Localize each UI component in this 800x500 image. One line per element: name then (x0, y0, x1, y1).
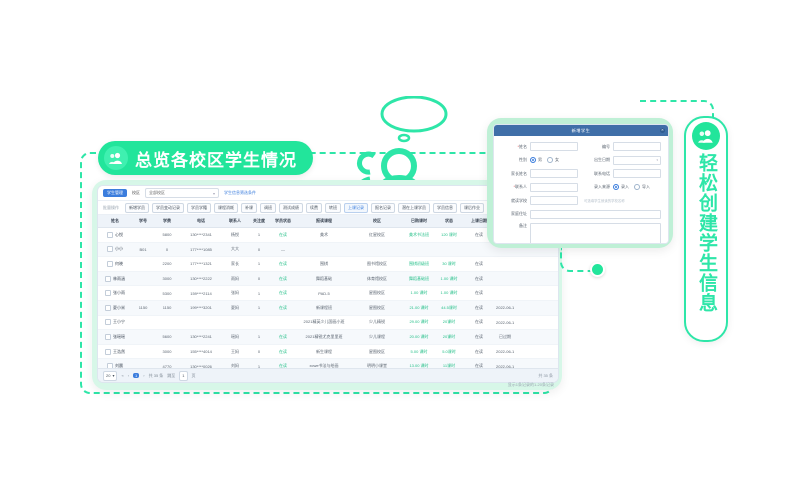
table-cell: 星图校区 (352, 290, 402, 296)
table-cell: 夏小米 (98, 305, 132, 311)
table-cell: 星图校区 (352, 349, 402, 355)
chevron-down-icon: ▾ (112, 372, 114, 380)
badge-left-label: 总览各校区学生情况 (135, 146, 297, 171)
field-label: 编号 (584, 144, 610, 150)
table-cell: 在读 (462, 349, 496, 355)
field-label: 家长姓名 (501, 171, 527, 177)
row-checkbox[interactable] (105, 290, 111, 296)
table-cell: 王妈 (222, 349, 248, 355)
radio-label: 录入 (621, 184, 629, 190)
table-cell: 0 (154, 247, 180, 252)
dialog-connector-dot (590, 262, 605, 277)
table-cell: 杨悦 (222, 232, 248, 238)
table-cell: 已过期 (496, 334, 514, 340)
table-cell: 1150 (132, 305, 154, 310)
form-row: *姓名编号 (501, 142, 661, 151)
row-checkbox[interactable] (105, 305, 111, 311)
table-row[interactable]: 刘晨4770130****0026刘妈1在读xcwe书法与绘画明明小课堂13.0… (98, 359, 558, 368)
table-column-header: 学费 (154, 218, 180, 224)
table-cell: 红星校区 (352, 232, 402, 238)
pagination-bar: 20 ▾ « ‹ 1 › 共 35 条 跳至 1 页 共 35 条 (98, 368, 558, 382)
table-cell: 0 (248, 276, 270, 281)
table-cell: 177****1085 (180, 247, 222, 252)
table-cell: 张妈 (222, 290, 248, 296)
campus-select-value: 全部校区 (149, 190, 165, 196)
radio-option[interactable]: 女 (547, 157, 559, 163)
badge-right-label: 轻松创建学生信息 (696, 153, 716, 313)
create-student-dialog: 新增学生 ✕ *姓名编号性别男女出生日期▾家长姓名联系电话*联系人录入来源录入导… (493, 124, 669, 244)
table-cell: 在读 (462, 334, 496, 340)
table-row[interactable]: 张瑶瑶5600130****2241瑶妈1在读2021精锐尤克里里班少儿课程20… (98, 330, 558, 345)
field-textarea[interactable] (530, 223, 661, 244)
dialog-title-bar: 新增学生 ✕ (494, 125, 668, 136)
table-cell: 王小宁 (98, 319, 132, 325)
table-cell: 少儿精锐 (352, 319, 402, 325)
table-cell: 5.00 课时 (402, 349, 436, 355)
row-checkbox[interactable] (105, 334, 111, 340)
campus-select[interactable]: 全部校区 ▾ (145, 188, 219, 198)
table-cell: 围棋初级班 (402, 261, 436, 267)
radio-dot (634, 184, 640, 190)
toolbar-button[interactable]: 课程消耗 (214, 203, 238, 213)
record-count-footnote: 显示1条记录的1-20条记录 (508, 382, 554, 388)
field-input[interactable] (530, 183, 578, 192)
table-row[interactable]: 王浩然3000155****4014王妈0在读新生课程星图校区5.00 课时5.… (98, 345, 558, 360)
radio-option[interactable]: 录入 (613, 184, 629, 190)
goto-page-input[interactable]: 1 (179, 371, 187, 381)
table-cell: 2022-06-11 (496, 305, 514, 310)
field-hint-text: 可选填学生就读的学校名称 (584, 198, 625, 203)
table-column-header: 关注度 (248, 218, 270, 224)
toolbar-button[interactable]: 补课 (241, 203, 257, 213)
table-cell: 159****2114 (180, 291, 222, 296)
form-field: 编号 (584, 142, 661, 151)
goto-label: 跳至 (167, 373, 175, 379)
form-hint: 可选填学生就读的学校名称 (584, 196, 661, 205)
row-checkbox[interactable] (107, 261, 113, 267)
form-row: 家长姓名联系电话 (501, 169, 661, 178)
table-cell: 29.00 课时 (402, 319, 436, 325)
form-field: 联系电话 (584, 169, 661, 178)
table-cell: 在读 (462, 261, 496, 267)
table-column-header: 报读课程 (296, 218, 352, 224)
table-cell: 星图校区 (352, 305, 402, 311)
table-cell: 177****1321 (180, 261, 222, 266)
table-cell: 44.5课时 (436, 305, 462, 311)
close-icon[interactable]: ✕ (660, 128, 665, 133)
table-cell: 在读 (270, 276, 296, 282)
table-cell: 3000 (154, 276, 180, 281)
form-field: 出生日期▾ (584, 156, 661, 165)
radio-group[interactable]: 男女 (530, 157, 559, 163)
form-row: *联系人录入来源录入导入 (501, 183, 661, 192)
table-column-header: 校区 (352, 218, 402, 224)
total-count-text: 共 35 条 (149, 373, 164, 379)
toolbar-button[interactable]: 上课记录 (344, 203, 368, 213)
table-cell: 何晓 (98, 261, 132, 267)
table-cell: 0 (248, 247, 270, 252)
saved-filter-link[interactable]: 学生信息筛选条件 (224, 190, 256, 196)
field-label: 录入来源 (584, 184, 610, 190)
radio-dot (613, 184, 619, 190)
radio-group[interactable]: 录入导入 (613, 184, 650, 190)
chevron-down-icon: ▾ (213, 191, 215, 196)
toolbar-button[interactable]: 续费 (306, 203, 322, 213)
row-checkbox[interactable] (105, 319, 111, 325)
page-size-select[interactable]: 20 ▾ (103, 371, 117, 381)
form-field: 录入来源录入导入 (584, 183, 661, 192)
field-input[interactable] (530, 196, 578, 205)
table-cell: 2200 (154, 261, 180, 266)
pager-right-text: 共 35 条 (538, 373, 553, 379)
table-cell: 张小雨 (98, 290, 132, 296)
create-student-card: 新增学生 ✕ *姓名编号性别男女出生日期▾家长姓名联系电话*联系人录入来源录入导… (487, 118, 673, 248)
table-cell: 5800 (154, 232, 180, 237)
table-cell: 在读 (270, 305, 296, 311)
table-cell: 1 (248, 232, 270, 237)
field-label: 家庭住址 (501, 211, 527, 217)
radio-option[interactable]: 导入 (634, 184, 650, 190)
table-column-header: 联系人 (222, 218, 248, 224)
toolbar-button[interactable]: 新增学员 (125, 203, 149, 213)
table-cell: 5300 (154, 291, 180, 296)
radio-label: 女 (555, 157, 559, 163)
field-input[interactable] (613, 169, 661, 178)
table-cell: 在读 (270, 349, 296, 355)
table-cell: 5600 (154, 334, 180, 339)
toolbar-button[interactable]: 测试成绩 (279, 203, 303, 213)
toolbar-button[interactable]: 课后作业 (460, 203, 484, 213)
field-label: *姓名 (501, 144, 527, 150)
toolbar-button[interactable]: 调班 (260, 203, 276, 213)
form-row: 家庭住址 (501, 210, 661, 219)
field-label: 就读学校 (501, 198, 527, 204)
table-cell: 5.0课时 (436, 349, 462, 355)
goto-page-value: 1 (182, 372, 184, 380)
table-column-header: 电话 (180, 218, 222, 224)
table-cell: 1150 (154, 305, 180, 310)
poster-stage: 学生管理 校区 全部校区 ▾ 学生信息筛选条件 批量操作 新增学员 学员变动记录… (0, 0, 800, 500)
field-input[interactable] (530, 210, 661, 219)
batch-action-label: 批量操作 (103, 205, 119, 211)
next-page-button[interactable]: › (143, 373, 144, 378)
table-cell: 新生课程 (296, 349, 352, 355)
table-cell: PAD-5 (296, 291, 352, 296)
table-cell: 在读 (270, 334, 296, 340)
table-cell: 心悦 (98, 232, 132, 238)
table-cell: 少儿课程 (352, 334, 402, 340)
field-label: 性别 (501, 157, 527, 163)
badge-create-student: 轻松创建学生信息 (684, 116, 728, 342)
first-page-button[interactable]: « (121, 373, 123, 378)
table-cell: 在读 (270, 261, 296, 267)
table-cell: — (270, 247, 296, 252)
current-page-button[interactable]: 1 (133, 373, 139, 378)
row-checkbox[interactable] (107, 246, 113, 252)
table-cell: 3000 (154, 349, 180, 354)
table-cell: 在读 (462, 276, 496, 282)
form-field: *姓名 (501, 142, 578, 151)
form-field: *联系人 (501, 183, 578, 192)
table-cell: 瑶妈 (222, 334, 248, 340)
table-column-header: 已购课时 (402, 218, 436, 224)
table-cell: 小小 (98, 246, 132, 252)
table-cell: 图书馆校区 (352, 261, 402, 267)
field-input[interactable] (530, 142, 578, 151)
table-cell: 120 课时 (436, 232, 462, 238)
table-cell: 在读 (462, 305, 496, 311)
table-row[interactable]: 张小雨5300159****2114张妈1在读PAD-5星图校区1.00 课时1… (98, 286, 558, 301)
table-cell: 在读 (270, 290, 296, 296)
table-cell: 新课程班 (296, 305, 352, 311)
form-row: 性别男女出生日期▾ (501, 156, 661, 165)
toolbar-button[interactable]: 学员学籍 (187, 203, 211, 213)
table-body: 心悦5800130****2341杨悦1在读美术红星校区美术书法班120 课时在… (98, 228, 558, 368)
radio-dot (530, 157, 536, 163)
table-cell: 21.00 课时 (402, 305, 436, 311)
field-input[interactable] (530, 169, 578, 178)
table-cell: 2022-06-10 (496, 349, 514, 354)
table-cell: 在读 (462, 319, 496, 325)
table-cell: 美术 (296, 232, 352, 238)
field-label: 出生日期 (584, 157, 610, 163)
table-cell: 夏妈 (222, 305, 248, 311)
table-cell: 林雨涵 (98, 276, 132, 282)
table-cell: 1 (248, 305, 270, 310)
table-cell: 1 (248, 261, 270, 266)
table-column-header: 状态 (436, 218, 462, 224)
table-cell: 130****2241 (180, 334, 222, 339)
table-cell: 130****2222 (180, 276, 222, 281)
table-cell: 2021精英少儿国画小班 (296, 319, 352, 325)
form-row: 就读学校可选填学生就读的学校名称 (501, 196, 661, 205)
page-size-value: 20 (106, 372, 110, 380)
table-cell: 大大 (222, 246, 248, 252)
campus-label: 校区 (132, 190, 140, 196)
form-field: 家长姓名 (501, 169, 578, 178)
row-checkbox[interactable] (105, 276, 111, 282)
field-label: 联系电话 (584, 171, 610, 177)
table-cell: 家长 (222, 261, 248, 267)
table-cell: 0 (248, 349, 270, 354)
table-cell: 1 (248, 334, 270, 339)
form-field: 就读学校 (501, 196, 578, 205)
form-row: 备注 (501, 223, 661, 244)
two-people-icon (692, 122, 720, 150)
toolbar-button[interactable]: 学员变动记录 (152, 203, 184, 213)
table-cell: 舞蹈基础 (296, 276, 352, 282)
table-row[interactable]: 何晓2200177****1321家长1在读围棋图书馆校区围棋初级班30 课时在… (98, 257, 558, 272)
table-row[interactable]: 王小宁2021精英少儿国画小班少儿精锐29.00 课时20课时在读2022-06… (98, 316, 558, 331)
table-cell: 在读 (462, 290, 496, 296)
radio-dot (547, 157, 553, 163)
radio-label: 男 (538, 157, 542, 163)
chevron-down-icon: ▾ (656, 158, 658, 162)
radio-option[interactable]: 男 (530, 157, 542, 163)
table-cell: 155****4014 (180, 349, 222, 354)
table-row[interactable]: 夏小米11501150199****3201夏妈1在读新课程班星图校区21.00… (98, 301, 558, 316)
row-checkbox[interactable] (107, 232, 113, 238)
form-field: 家庭住址 (501, 210, 661, 219)
table-cell: 20课时 (436, 319, 462, 325)
form-field: 备注 (501, 223, 661, 244)
prev-page-button[interactable]: ‹ (128, 373, 129, 378)
field-label: 备注 (501, 223, 527, 229)
table-cell: 130****2341 (180, 232, 222, 237)
table-cell: 体育馆校区 (352, 276, 402, 282)
table-cell: 美术书法班 (402, 232, 436, 238)
table-cell: 1.00 课时 (436, 276, 462, 282)
tab-student-management[interactable]: 学生管理 (103, 189, 127, 197)
toolbar-button[interactable]: 潜在上课学员 (398, 203, 430, 213)
radio-label: 导入 (642, 184, 650, 190)
table-column-header: 姓名 (98, 218, 132, 224)
goto-unit: 页 (192, 373, 196, 379)
table-cell: 20课时 (436, 334, 462, 340)
toolbar-button[interactable]: 转班 (325, 203, 341, 213)
badge-overview-students: 总览各校区学生情况 (98, 141, 313, 175)
table-cell: 20.00 课时 (402, 334, 436, 340)
toolbar-button[interactable]: 报名记录 (371, 203, 395, 213)
table-cell: B01 (132, 247, 154, 252)
table-cell: 雨妈 (222, 276, 248, 282)
table-column-header: 学号 (132, 218, 154, 224)
field-select[interactable]: ▾ (613, 156, 661, 165)
table-cell: 1 (248, 291, 270, 296)
dialog-form: *姓名编号性别男女出生日期▾家长姓名联系电话*联系人录入来源录入导入就读学校可选… (494, 136, 668, 244)
table-row[interactable]: 小小B010177****1085大大0— (98, 243, 558, 258)
table-cell: 张瑶瑶 (98, 334, 132, 340)
dialog-title: 新增学生 (572, 128, 591, 134)
table-cell: 围棋 (296, 261, 352, 267)
table-cell: 1.00 课时 (402, 290, 436, 296)
row-checkbox[interactable] (105, 349, 111, 355)
field-input[interactable] (613, 142, 661, 151)
toolbar-button[interactable]: 学员信息 (433, 203, 457, 213)
two-people-icon (104, 146, 128, 170)
table-column-header: 学员状态 (270, 218, 296, 224)
field-label: *联系人 (501, 184, 527, 190)
table-cell: 199****3201 (180, 305, 222, 310)
table-row[interactable]: 林雨涵3000130****2222雨妈0在读舞蹈基础体育馆校区舞蹈基础班1.0… (98, 272, 558, 287)
table-cell: 舞蹈基础班 (402, 276, 436, 282)
table-cell: 2021精锐尤克里里班 (296, 334, 352, 340)
table-cell: 2022-06-10 (496, 320, 514, 325)
table-cell: 在读 (270, 232, 296, 238)
table-cell: 1.00 课时 (436, 290, 462, 296)
table-cell: 30 课时 (436, 261, 462, 267)
form-field: 性别男女 (501, 156, 578, 165)
table-cell: 王浩然 (98, 349, 132, 355)
